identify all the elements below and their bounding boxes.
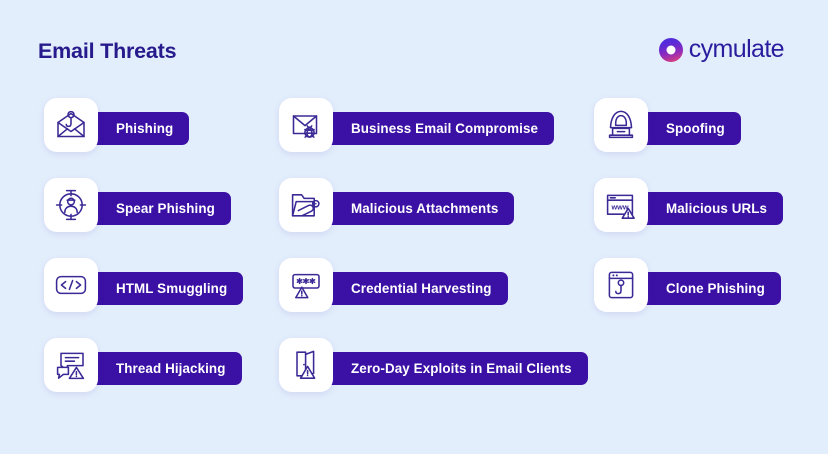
password-warning-icon — [279, 258, 333, 312]
threat-item-spear-phishing[interactable]: Spear Phishing — [44, 174, 231, 242]
hooded-hacker-laptop-icon — [594, 98, 648, 152]
threat-item-thread-hijacking[interactable]: Thread Hijacking — [44, 334, 242, 402]
browser-www-warning-icon: www — [594, 178, 648, 232]
threat-grid: Phishing Business Email Compromise — [0, 94, 828, 414]
browser-hook-icon — [594, 258, 648, 312]
envelope-bug-icon — [279, 98, 333, 152]
threat-row: HTML Smuggling Credential Harvesting — [0, 254, 828, 334]
threat-label: Business Email Compromise — [306, 112, 554, 145]
threat-item-malicious-attachments[interactable]: Malicious Attachments — [279, 174, 514, 242]
threat-item-phishing[interactable]: Phishing — [44, 94, 189, 162]
cymulate-ring-logo-icon — [659, 38, 683, 62]
threat-label: Malicious Attachments — [306, 192, 514, 225]
header: Email Threats cymulate — [0, 0, 828, 90]
envelope-hook-icon — [44, 98, 98, 152]
threat-item-malicious-urls[interactable]: Malicious URLs www — [594, 174, 783, 242]
infographic-page: Email Threats cymulate Phishing — [0, 0, 828, 454]
chat-warning-icon — [44, 338, 98, 392]
threat-item-html-smuggling[interactable]: HTML Smuggling — [44, 254, 243, 322]
threat-row: Thread Hijacking Zero-Day Exploits i — [0, 334, 828, 414]
threat-item-spoofing[interactable]: Spoofing — [594, 94, 741, 162]
threat-item-clone-phishing[interactable]: Clone Phishing — [594, 254, 781, 322]
threat-item-business-email-compromise[interactable]: Business Email Compromise — [279, 94, 554, 162]
threat-row: Spear Phishing Malici — [0, 174, 828, 254]
page-title: Email Threats — [38, 39, 176, 64]
threat-item-credential-harvesting[interactable]: Credential Harvesting — [279, 254, 508, 322]
folder-paperclip-icon — [279, 178, 333, 232]
open-door-warning-icon — [279, 338, 333, 392]
brand-name: cymulate — [689, 37, 784, 62]
svg-text:www: www — [610, 202, 628, 211]
threat-row: Phishing Business Email Compromise — [0, 94, 828, 174]
code-brackets-icon — [44, 258, 98, 312]
threat-label: Zero-Day Exploits in Email Clients — [306, 352, 588, 385]
brand-logo: cymulate — [659, 37, 784, 62]
threat-item-zero-day-exploits[interactable]: Zero-Day Exploits in Email Clients — [279, 334, 588, 402]
target-person-icon — [44, 178, 98, 232]
threat-label: Credential Harvesting — [306, 272, 508, 305]
